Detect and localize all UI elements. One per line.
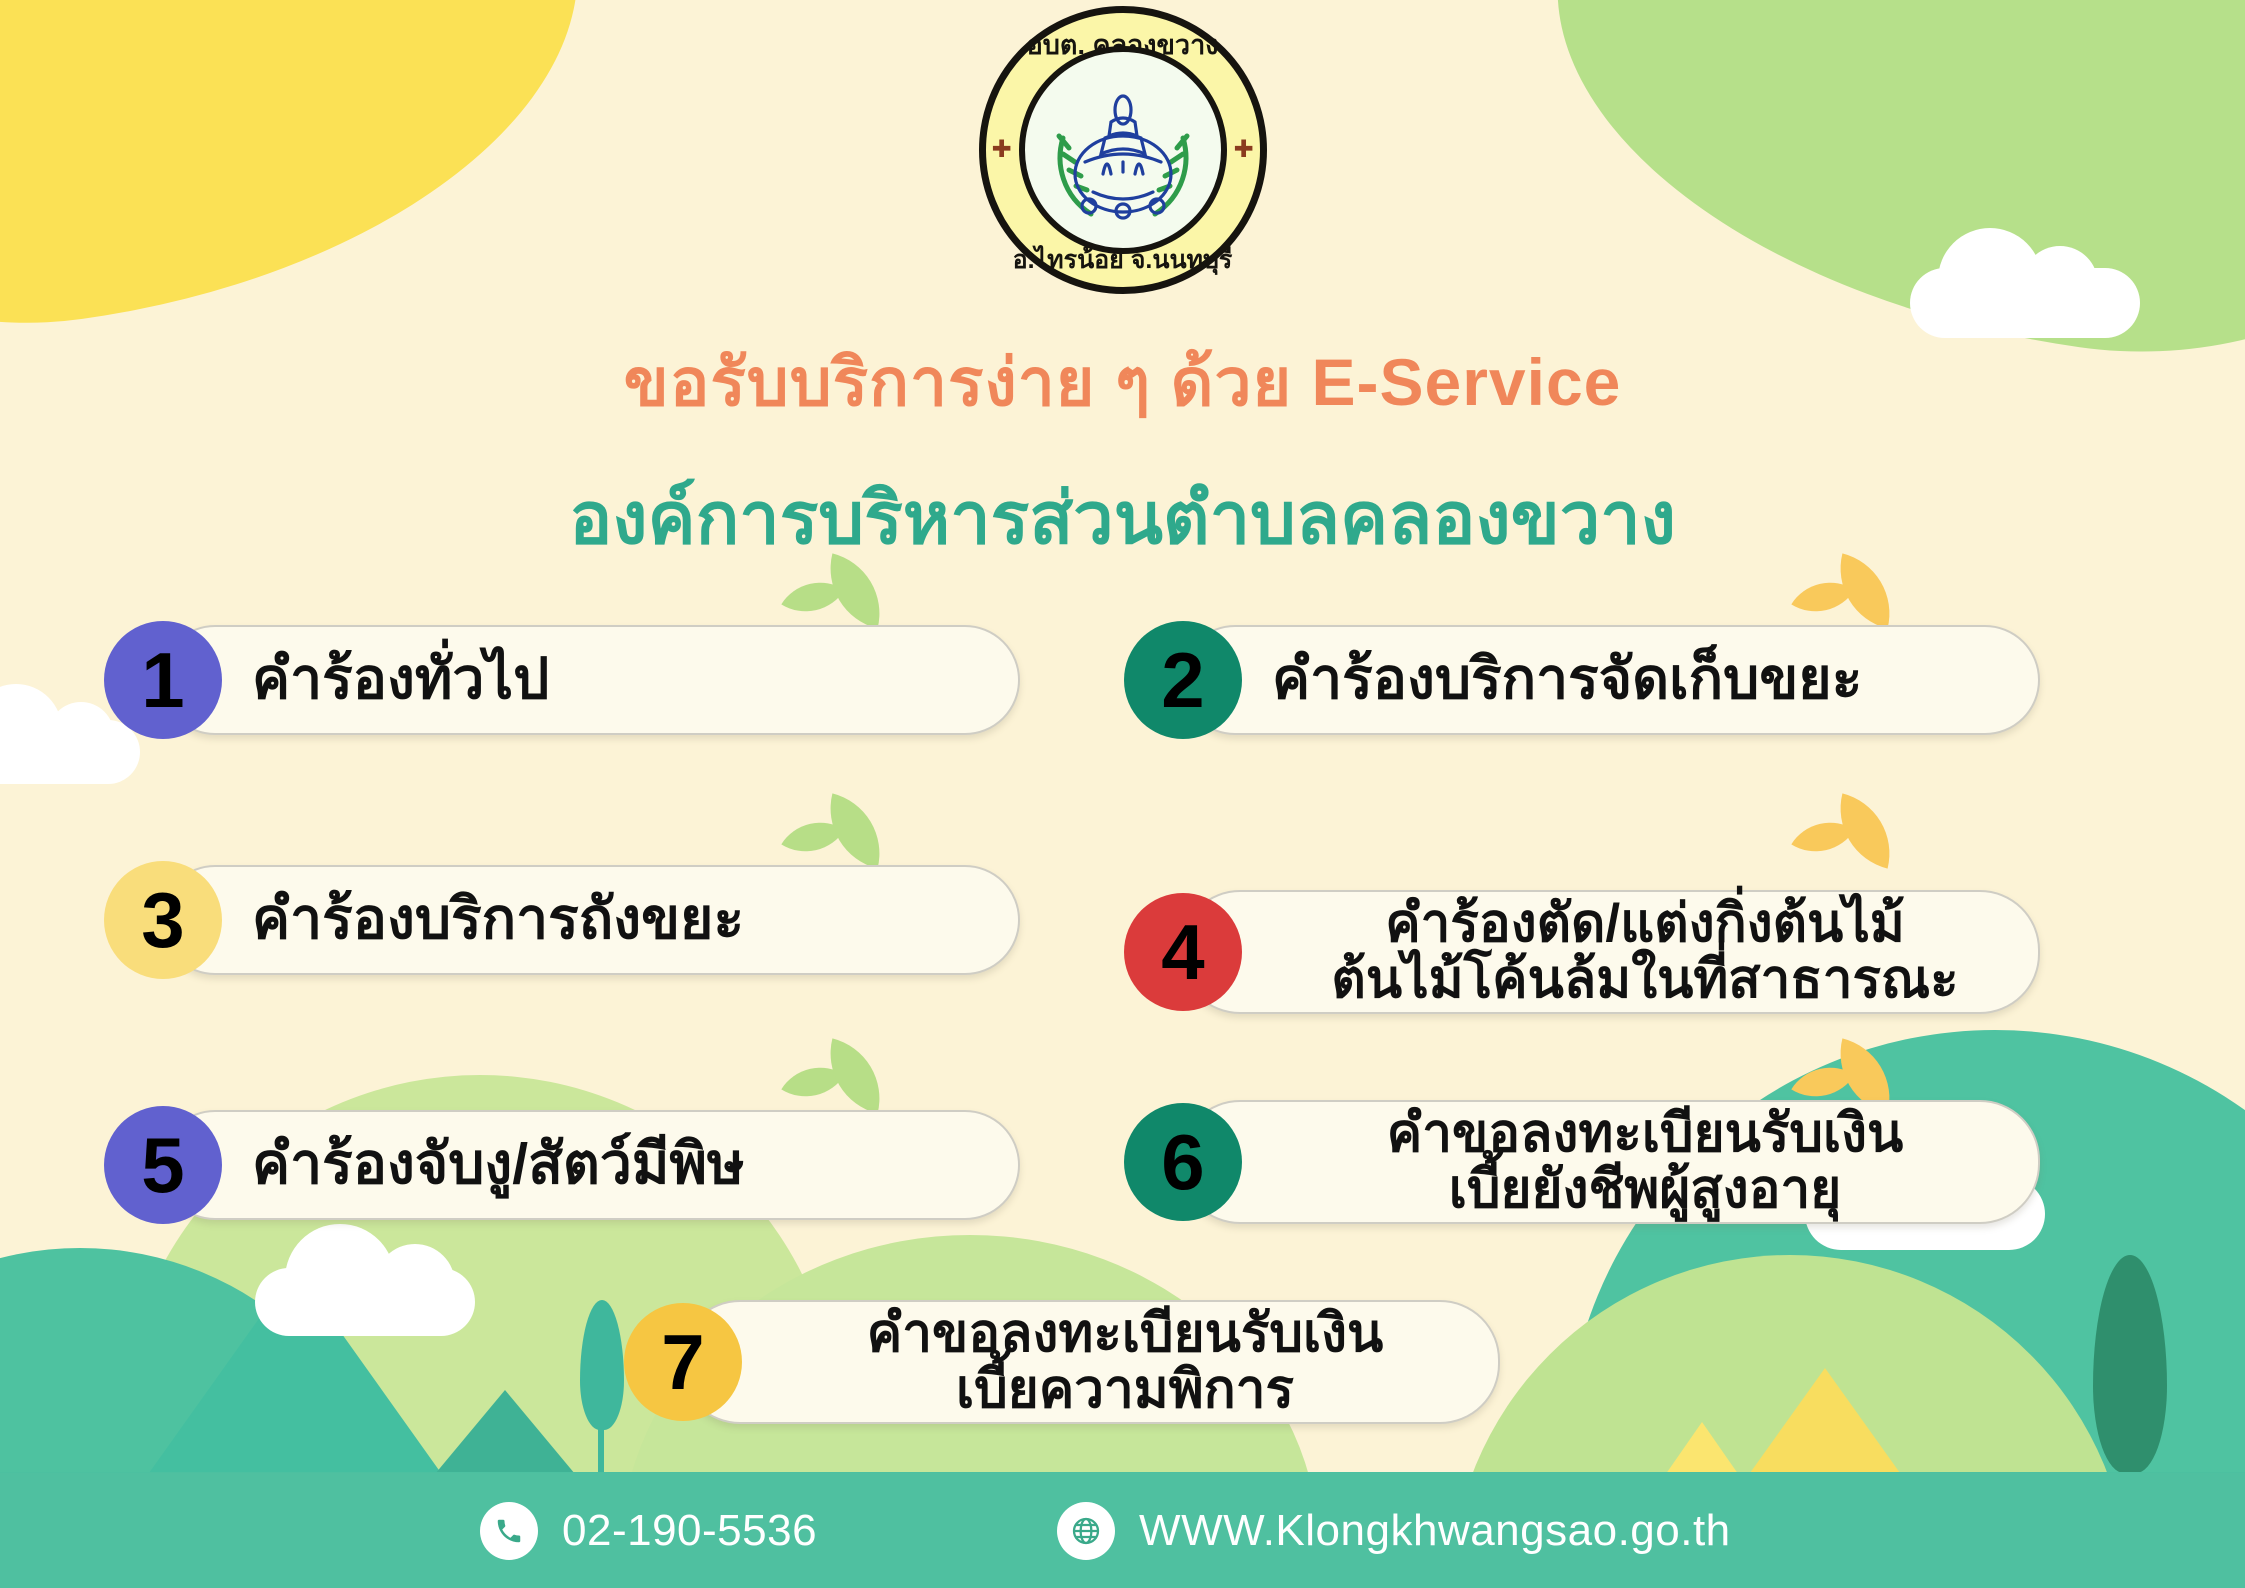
- yellow-blob-top-left: [0, 0, 617, 369]
- cloud-bottom-left: [255, 1268, 475, 1336]
- phone-number: 02-190-5536: [562, 1506, 817, 1556]
- website-url: WWW.Klongkhwangsao.go.th: [1139, 1506, 1731, 1556]
- urn-and-rice-emblem-icon: [1033, 64, 1213, 239]
- service-item-5[interactable]: 5 คำร้องจับงู/สัตว์มีพิษ: [160, 1110, 1020, 1220]
- service-badge-1: 1: [104, 621, 222, 739]
- globe-icon: [1057, 1502, 1115, 1560]
- phone-icon: [480, 1502, 538, 1560]
- contact-footer: 02-190-5536 WWW.Klongkhwangsao.go.th: [0, 1473, 2245, 1588]
- service-badge-4: 4: [1124, 893, 1242, 1011]
- eservice-poster: อบต. คลองขวาง อ.ไทรน้อย จ.นนทบุรี ✚ ✚: [0, 0, 2245, 1588]
- tree-small-icon: [568, 1300, 634, 1485]
- service-badge-5: 5: [104, 1106, 222, 1224]
- service-badge-6: 6: [1124, 1103, 1242, 1221]
- service-item-3[interactable]: 3 คำร้องบริการถังขยะ: [160, 865, 1020, 975]
- service-item-4[interactable]: 4 คำร้องตัด/แต่งกิ่งต้นไม้ ต้นไม้โค้นล้ม…: [1180, 890, 2040, 1014]
- service-label-5: คำร้องจับงู/สัตว์มีพิษ: [252, 1134, 745, 1196]
- service-label-1: คำร้องทั่วไป: [252, 649, 549, 711]
- cloud-top-right: [1910, 268, 2140, 338]
- service-label-2: คำร้องบริการจัดเก็บขยะ: [1272, 649, 1862, 711]
- tree-cypress-icon: [2085, 1255, 2175, 1505]
- page-subtitle: องค์การบริหารส่วนตำบลคลองขวาง: [0, 460, 2245, 575]
- service-item-1[interactable]: 1 คำร้องทั่วไป: [160, 625, 1020, 735]
- seal-ornament-right-icon: ✚: [1233, 139, 1255, 161]
- page-title: ขอรับบริการง่าย ๆ ด้วย E-Service: [0, 330, 2245, 435]
- service-item-7[interactable]: 7 คำขอลงทะเบียนรับเงิน เบี้ยความพิการ: [680, 1300, 1500, 1424]
- service-badge-7: 7: [624, 1303, 742, 1421]
- service-label-7: คำขอลงทะเบียนรับเงิน เบี้ยความพิการ: [682, 1306, 1498, 1418]
- cloud-middle-left: [0, 720, 140, 784]
- organization-seal-logo: อบต. คลองขวาง อ.ไทรน้อย จ.นนทบุรี ✚ ✚: [979, 6, 1267, 294]
- service-badge-3: 3: [104, 861, 222, 979]
- service-item-6[interactable]: 6 คำขอลงทะเบียนรับเงิน เบี้ยยังชีพผู้สูง…: [1180, 1100, 2040, 1224]
- service-badge-2: 2: [1124, 621, 1242, 739]
- service-label-3: คำร้องบริการถังขยะ: [252, 889, 744, 951]
- footer-website[interactable]: WWW.Klongkhwangsao.go.th: [1057, 1502, 1731, 1560]
- footer-phone[interactable]: 02-190-5536: [480, 1502, 817, 1560]
- service-label-4: คำร้องตัด/แต่งกิ่งต้นไม้ ต้นไม้โค้นล้มใน…: [1182, 896, 2038, 1008]
- service-label-6: คำขอลงทะเบียนรับเงิน เบี้ยยังชีพผู้สูงอา…: [1182, 1106, 2038, 1218]
- seal-ornament-left-icon: ✚: [991, 139, 1013, 161]
- service-item-2[interactable]: 2 คำร้องบริการจัดเก็บขยะ: [1180, 625, 2040, 735]
